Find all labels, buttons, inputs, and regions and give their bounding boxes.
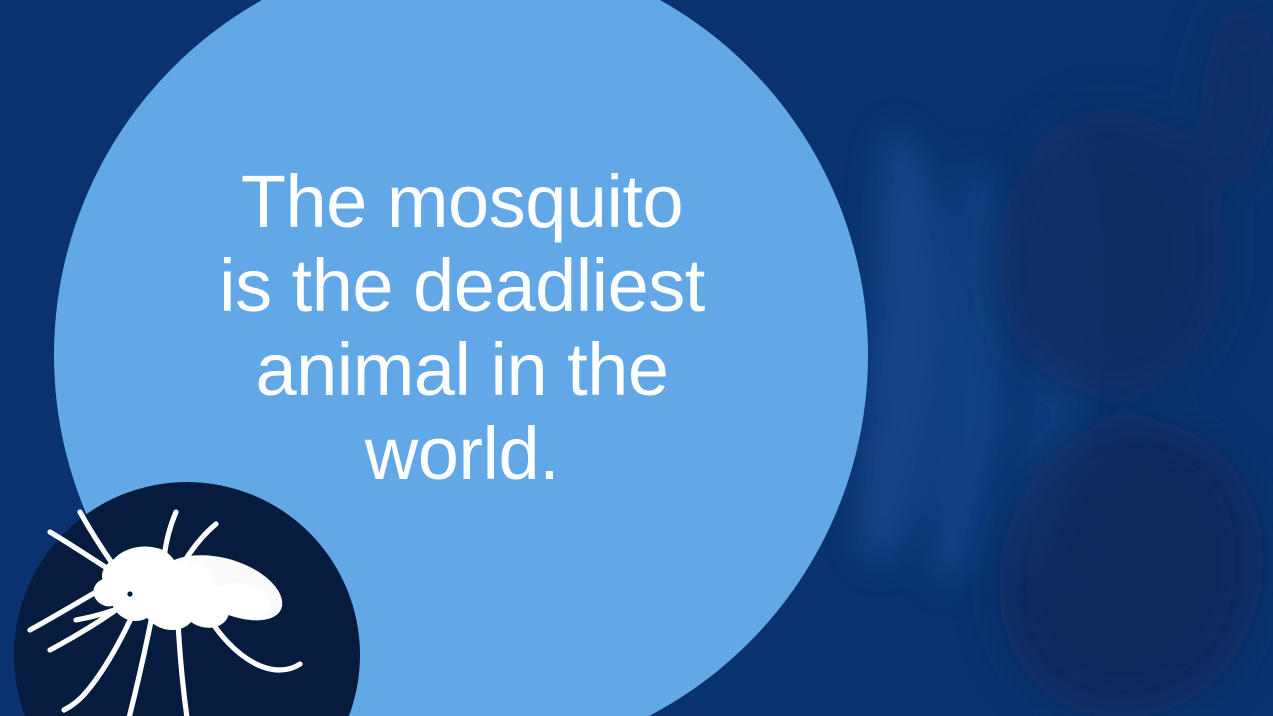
quote-line-1: The mosquito bbox=[92, 160, 832, 244]
quote-text-block: The mosquito is the deadliest animal in … bbox=[92, 160, 832, 496]
mosquito-eye-dot bbox=[127, 591, 132, 596]
mosquito-badge bbox=[14, 482, 360, 716]
quote-line-3: animal in the bbox=[92, 328, 832, 412]
slide-canvas: The mosquito is the deadliest animal in … bbox=[0, 0, 1273, 716]
quote-line-2: is the deadliest bbox=[92, 244, 832, 328]
